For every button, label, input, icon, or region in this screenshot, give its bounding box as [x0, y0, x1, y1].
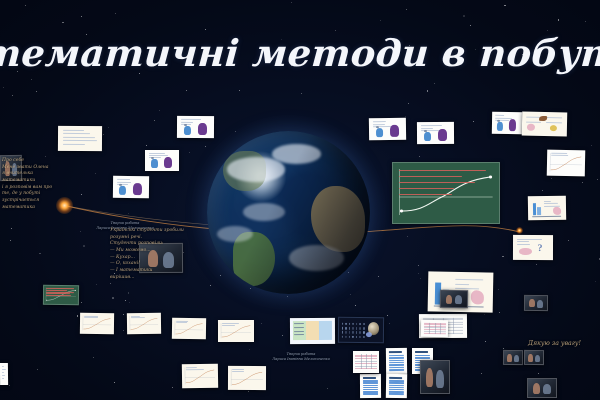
planet-cell	[349, 327, 351, 330]
figure-person	[184, 126, 191, 135]
figure-person	[198, 123, 207, 135]
photo-subject	[514, 355, 519, 362]
sketch-shape	[539, 116, 547, 122]
slide-card-photo-group-1[interactable]	[524, 295, 548, 311]
closing-note-right: Дякую за увагу!	[528, 340, 588, 349]
sketch-shape	[550, 125, 557, 131]
slide-text-line	[456, 279, 483, 281]
photo-subject	[455, 295, 462, 304]
list-row	[389, 385, 404, 387]
globe-shadow	[207, 131, 370, 294]
list-row	[389, 355, 404, 357]
prezi-canvas[interactable]: атематичні методи в побуті та жит ? Про …	[0, 0, 600, 400]
slide-text-line	[294, 327, 304, 328]
slide-card-graph-bl-6[interactable]	[228, 366, 266, 390]
slide-text-line	[546, 117, 561, 118]
list-header	[415, 351, 428, 353]
slide-text-line	[63, 130, 84, 131]
planet-cell	[363, 327, 365, 330]
slide-text-line	[517, 241, 529, 242]
planet-cell	[349, 323, 351, 326]
slide-chart	[219, 321, 253, 341]
list-row	[389, 367, 404, 369]
figure-head	[497, 120, 500, 122]
slide-card-figures-3[interactable]	[145, 150, 179, 171]
list-header	[389, 377, 402, 379]
list-row	[389, 393, 404, 395]
slide-text-line	[517, 244, 530, 245]
slide-text-line	[294, 323, 304, 324]
slide-card-graph-bl-5[interactable]	[182, 364, 218, 389]
slide-card-photo-portrait[interactable]	[420, 360, 450, 394]
list-row	[363, 391, 378, 392]
planet-cell	[349, 331, 351, 334]
slide-card-graph-bl-1[interactable]	[80, 313, 114, 334]
slide-card-chalkboard-main[interactable]	[392, 162, 500, 224]
planet-cell	[356, 323, 358, 326]
photo-block	[306, 321, 318, 340]
slide-text-line	[517, 239, 542, 240]
slide-card-graph-bl-2[interactable]	[127, 313, 161, 334]
board-text-line	[399, 188, 454, 189]
planet-cell	[359, 336, 361, 339]
photo-subject	[533, 383, 540, 394]
slide-text-line	[149, 153, 165, 154]
planet-cell	[345, 327, 347, 330]
slide-card-figures-6[interactable]	[492, 112, 522, 135]
planet-cell	[363, 336, 365, 339]
slide-text-line	[526, 122, 541, 123]
shape	[519, 247, 532, 255]
planet-cell	[359, 323, 361, 326]
slide-text-line	[63, 143, 84, 144]
slide-card-graph-bl-4[interactable]	[218, 320, 254, 342]
figure-person	[119, 186, 126, 195]
slide-text-line	[181, 122, 193, 123]
planet-cell	[356, 331, 358, 334]
photo-backdrop	[441, 291, 467, 307]
board-text-line	[399, 176, 462, 177]
photo-subject	[436, 370, 444, 388]
photo-subject	[446, 294, 453, 304]
list-row	[389, 359, 404, 361]
slide-text-line	[222, 325, 235, 326]
path-node-right[interactable]	[516, 227, 523, 234]
bar	[537, 207, 540, 216]
list-row	[363, 385, 378, 386]
slide-text-line	[421, 128, 434, 129]
planet-cell	[359, 331, 361, 334]
table-col-divider	[453, 318, 454, 334]
slide-text-line	[186, 367, 197, 368]
slide-text-line	[2, 372, 5, 373]
slide-text-line	[495, 115, 504, 116]
planet-cell	[363, 323, 365, 326]
slide-text-line	[2, 378, 4, 379]
slide-card-graph-right[interactable]	[547, 150, 586, 177]
slide-card-chalkboard-small[interactable]	[43, 285, 79, 305]
figure-person	[151, 159, 157, 168]
slide-text-line	[222, 323, 239, 324]
figure-person	[390, 125, 399, 137]
slide-text-line	[544, 200, 551, 201]
slide-card-bar-right[interactable]	[528, 196, 566, 221]
slide-card-figures-5[interactable]	[417, 122, 454, 144]
slide-text-line	[2, 366, 5, 367]
axis	[532, 216, 561, 217]
slide-text-line	[63, 137, 95, 138]
slide-card-photo-group-2[interactable]	[503, 350, 523, 365]
list-row	[389, 364, 404, 366]
figure-head	[184, 124, 187, 126]
bar	[533, 203, 536, 216]
board-text-line	[399, 182, 475, 183]
slide-card-figures-4[interactable]	[369, 118, 406, 141]
table-col-divider	[361, 354, 362, 369]
sketch-shape	[527, 124, 535, 131]
table-col-divider	[371, 354, 372, 369]
slide-text-line	[232, 371, 244, 372]
list-header	[363, 377, 376, 379]
figure-person	[497, 122, 503, 131]
planet-cell	[352, 331, 354, 334]
slide-text-line	[2, 375, 6, 376]
list-header	[389, 351, 402, 353]
slide-card-figures-1[interactable]	[177, 116, 214, 138]
chart-block	[319, 321, 332, 340]
slide-text-line	[117, 184, 128, 185]
list-row	[389, 362, 404, 364]
planet-cell	[342, 327, 344, 330]
photo-subject	[528, 354, 533, 362]
figure-person	[164, 157, 172, 168]
slide-text-line	[63, 140, 97, 141]
planet-cell	[342, 331, 344, 334]
photo-subject	[529, 299, 535, 307]
slide-text-line	[181, 119, 202, 120]
photo-subject	[535, 355, 540, 362]
planet-cell	[345, 323, 347, 326]
list-row	[363, 380, 378, 381]
slide-text-line	[495, 117, 511, 118]
earth-globe[interactable]	[207, 131, 370, 294]
board-text-line	[399, 194, 452, 195]
slide-card-green-text[interactable]	[58, 126, 102, 151]
slide-text-line	[232, 369, 244, 370]
slide-text-line	[117, 181, 131, 182]
slide-card-graph-bl-3[interactable]	[172, 318, 206, 340]
planet-cell	[359, 327, 361, 330]
planet-cell	[352, 327, 354, 330]
planet-cell	[352, 323, 354, 326]
slide-text-line	[294, 331, 304, 332]
slide-text-line	[63, 133, 90, 134]
photo-subject	[507, 354, 512, 362]
slide-card-colorful-top[interactable]	[290, 318, 335, 344]
planet-cell	[356, 336, 358, 339]
figure-person	[438, 129, 447, 141]
list-row	[363, 389, 378, 390]
list-row	[363, 387, 378, 388]
slide-card-photo-group-3[interactable]	[524, 350, 544, 365]
intro-block-left: Про себе Мене звати Олена я вчителька ма…	[2, 158, 60, 211]
planet-cell	[352, 336, 354, 339]
slide-card-planets[interactable]	[338, 317, 384, 344]
globe-sphere	[207, 131, 370, 294]
board-text-line	[399, 170, 486, 171]
slide-card-bottom-left-edge[interactable]	[0, 363, 8, 385]
slide-text-line	[456, 284, 469, 285]
slide-card-question[interactable]: ?	[513, 235, 553, 260]
photo-subject	[543, 384, 551, 394]
slide-card-photo-people[interactable]	[440, 290, 468, 308]
photo-subject	[426, 368, 433, 387]
slide-text-line	[117, 179, 130, 180]
slide-card-figures-2[interactable]	[113, 176, 149, 198]
question-block-center: Українські студенти зробили розумні речі…	[110, 228, 196, 281]
shape	[553, 207, 561, 215]
figure-person	[133, 183, 142, 195]
figure-person	[424, 132, 431, 141]
slide-text-line	[373, 124, 385, 125]
planet-cell	[345, 336, 347, 339]
question-mark: ?	[538, 243, 543, 254]
slide-text-line	[546, 122, 561, 123]
slide-text-line	[421, 125, 442, 126]
list-row	[389, 357, 404, 359]
planet-cell	[363, 331, 365, 334]
slide-card-list-4[interactable]	[386, 374, 407, 398]
slide-text-line	[373, 121, 386, 122]
slide-card-stage-photo[interactable]	[527, 378, 557, 398]
slide-card-table-mid[interactable]	[353, 351, 379, 373]
figure-head	[424, 130, 427, 132]
shape	[470, 291, 484, 305]
bottom-credit: Творча робота Лариса Іванівна Мельниченк…	[272, 352, 330, 362]
list-row	[363, 382, 378, 383]
slide-card-butterflies[interactable]	[522, 112, 567, 137]
planet-cell	[345, 331, 347, 334]
planet-cell	[356, 327, 358, 330]
planet-cell	[342, 336, 344, 339]
planet-sphere	[366, 332, 372, 337]
figure-head	[376, 126, 379, 128]
list-row	[389, 369, 404, 371]
slide-card-list-1[interactable]	[386, 348, 407, 374]
figure-person	[376, 128, 383, 137]
slide-card-table-sm-1[interactable]	[421, 320, 448, 337]
slide-text-line	[544, 203, 558, 204]
list-row	[415, 355, 430, 356]
figure-person	[509, 119, 516, 131]
list-row	[389, 382, 404, 384]
list-row	[415, 357, 430, 358]
slide-text-line	[2, 369, 6, 370]
planet-cell	[342, 323, 344, 326]
table-col-divider	[366, 354, 367, 369]
photo-subject	[537, 300, 543, 308]
planet-cell	[349, 336, 351, 339]
slide-card-list-3[interactable]	[360, 374, 381, 398]
list-row	[363, 393, 378, 394]
